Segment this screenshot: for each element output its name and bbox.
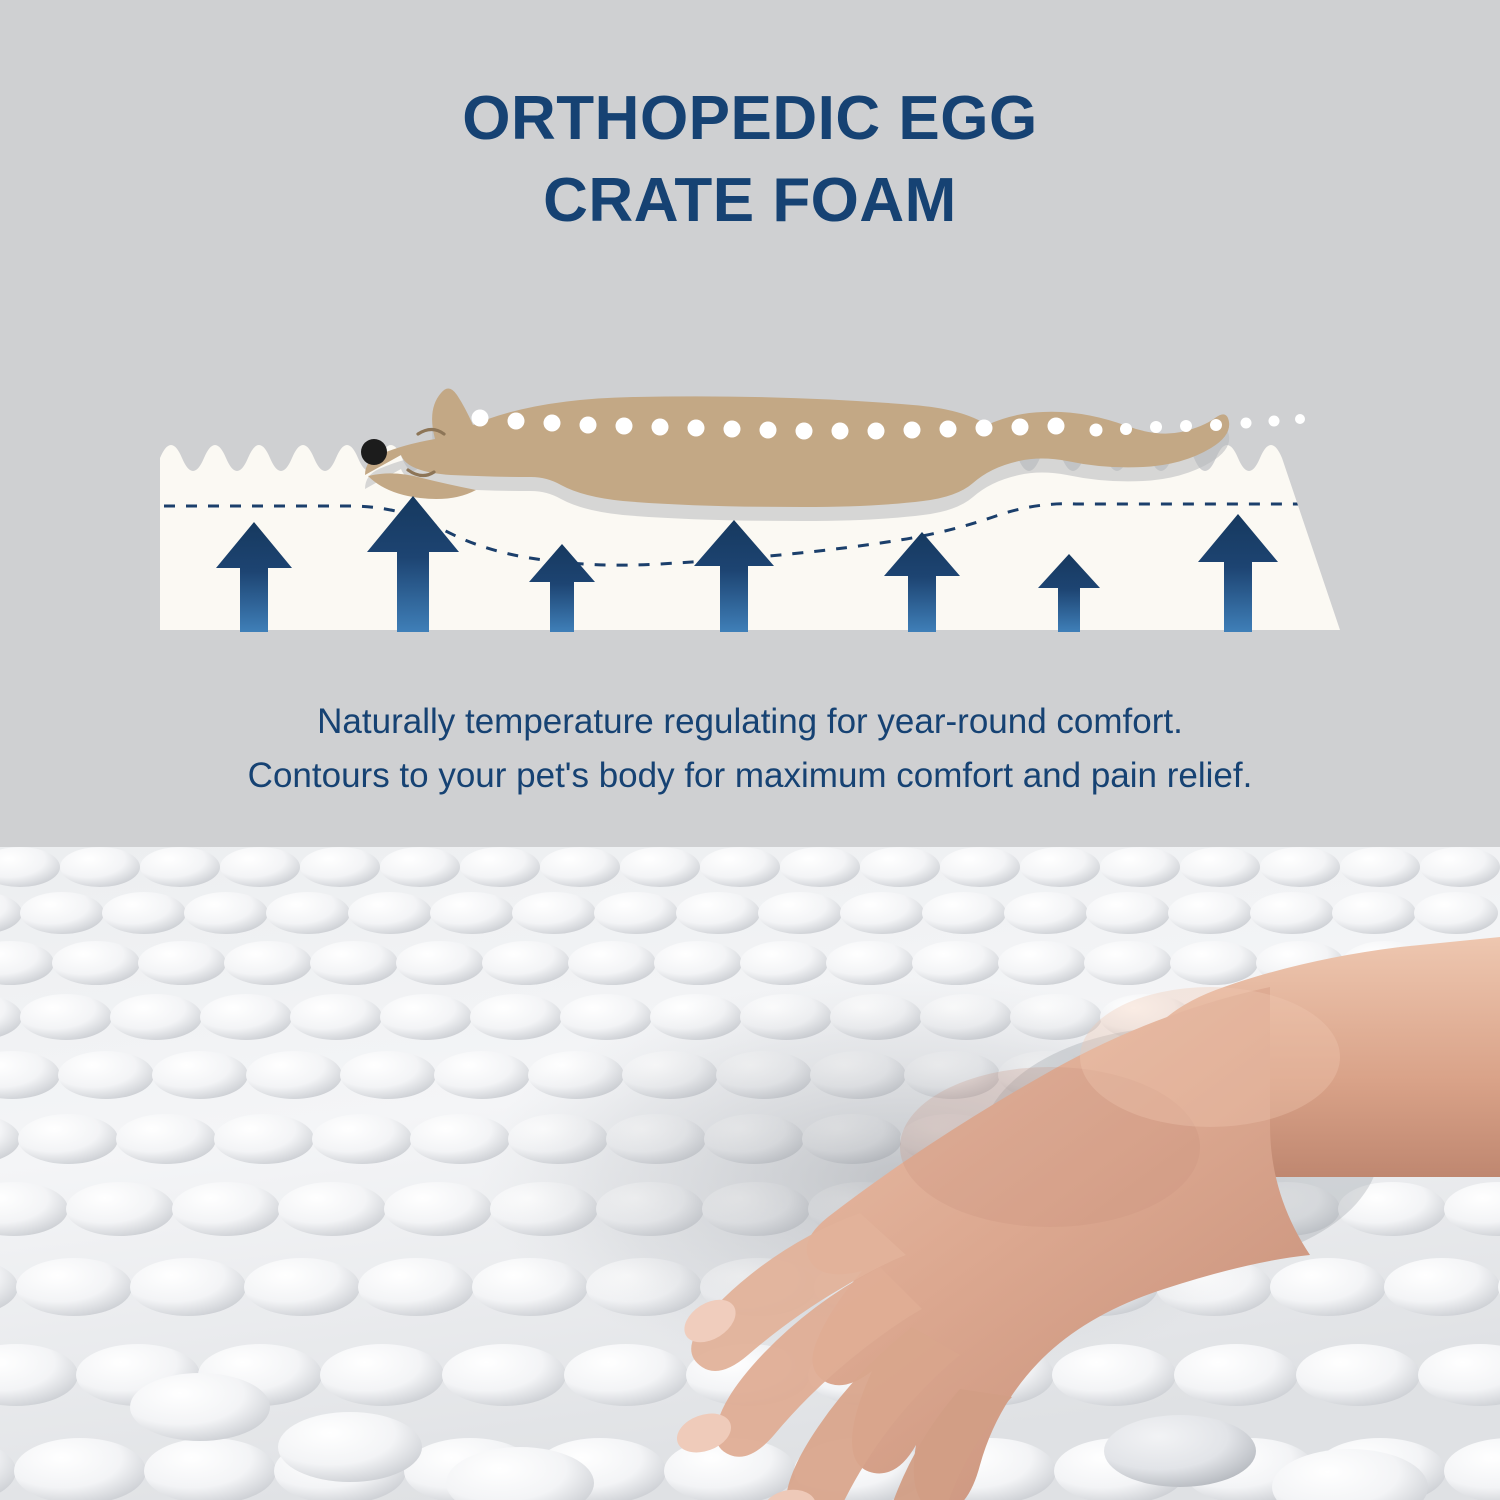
page-title-line-2: CRATE FOAM — [0, 160, 1500, 242]
dog-eye — [418, 430, 444, 435]
hand-pressing-egg-crate-foam — [0, 847, 1500, 1500]
dog-nose — [361, 439, 387, 465]
product-infographic: ORTHOPEDIC EGG CRATE FOAM — [0, 0, 1500, 1500]
page-title-line-1: ORTHOPEDIC EGG — [0, 78, 1500, 160]
feature-caption: Naturally temperature regulating for yea… — [0, 695, 1500, 804]
page-title: ORTHOPEDIC EGG CRATE FOAM — [0, 78, 1500, 242]
infographic-top-panel: ORTHOPEDIC EGG CRATE FOAM — [0, 0, 1500, 847]
feature-caption-line-1: Naturally temperature regulating for yea… — [0, 695, 1500, 749]
foam-photo-panel — [0, 847, 1500, 1500]
foam-support-diagram — [150, 300, 1350, 690]
feature-caption-line-2: Contours to your pet's body for maximum … — [0, 749, 1500, 803]
